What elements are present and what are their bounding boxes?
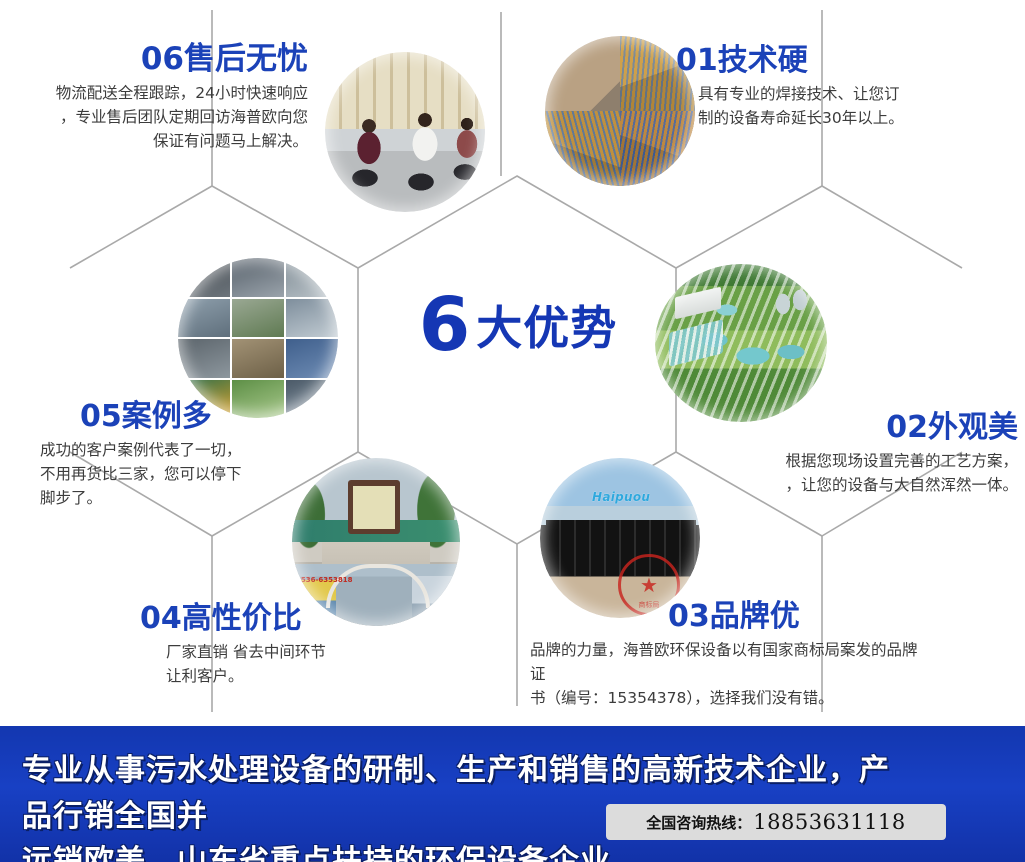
case-collage-photo [178,258,338,418]
aerial-sewage-plant-photo [655,264,827,422]
haipuou-brand-logo: Haipuou [592,490,650,504]
feature-05-title: 05案例多 [80,402,340,432]
welded-pipe-photo [545,36,695,186]
feature-06-body: 物流配送全程跟踪，24小时快速响应 ，专业售后团队定期回访海普欧向您 保证有问题… [8,81,308,153]
case-thumb [178,258,230,297]
feature-04-title: 04高性价比 [140,604,440,634]
feature-02-body: 根据您现场设置完善的工艺方案， ，让您的设备与大自然浑然一体。 [700,449,1018,497]
feature-03-title: 03品牌优 [668,602,930,632]
case-thumb [232,258,284,297]
office-staff-photo [325,52,485,212]
feature-05-body: 成功的客户案例代表了一切， 不用再货比三家，您可以停下 脚步了。 [40,438,340,510]
feature-01: 01技术硬 具有专业的焊接技术、让您订 制的设备寿命延长30年以上。 [676,46,1006,130]
case-thumb [286,339,338,378]
feature-02: 02外观美 根据您现场设置完善的工艺方案， ，让您的设备与大自然浑然一体。 [700,413,1018,497]
feature-04-body: 厂家直销 省去中间环节 让利客户。 [166,640,440,688]
case-thumb [178,339,230,378]
feature-01-body: 具有专业的焊接技术、让您订 制的设备寿命延长30年以上。 [698,82,1006,130]
feature-06-title: 06售后无忧 [8,44,308,75]
hotline-badge[interactable]: 全国咨询热线： 18853631118 [606,804,946,840]
advantage-label: 大优势 [476,301,617,355]
feature-04: 04高性价比 厂家直销 省去中间环节 让利客户。 [140,604,440,688]
feature-06: 06售后无忧 物流配送全程跟踪，24小时快速响应 ，专业售后团队定期回访海普欧向… [8,44,308,153]
case-thumb [232,339,284,378]
feature-03-body: 品牌的力量，海普欧环保设备以有国家商标局案发的品牌证 书（编号：15354378… [530,638,930,710]
feature-05: 05案例多 成功的客户案例代表了一切， 不用再货比三家，您可以停下 脚步了。 [40,402,340,510]
case-thumb [178,299,230,338]
case-thumb [286,258,338,297]
advantages-infographic: Haipuou ★ 商标局 0536-6353818 6大优势 06售后无忧 物… [0,0,1025,862]
hotline-number: 18853631118 [753,810,905,834]
center-title: 6大优势 [393,288,643,362]
feature-02-title: 02外观美 [700,413,1018,443]
advantage-count: 6 [419,282,471,368]
gate-phone-text: 0536-6353818 [296,576,352,584]
feature-03: 03品牌优 品牌的力量，海普欧环保设备以有国家商标局案发的品牌证 书（编号：15… [530,602,930,710]
hotline-label: 全国咨询热线： [646,812,751,833]
black-tank-trademark-photo: Haipuou ★ 商标局 [540,458,700,618]
feature-01-title: 01技术硬 [676,46,1006,76]
case-thumb [232,299,284,338]
case-thumb [286,299,338,338]
